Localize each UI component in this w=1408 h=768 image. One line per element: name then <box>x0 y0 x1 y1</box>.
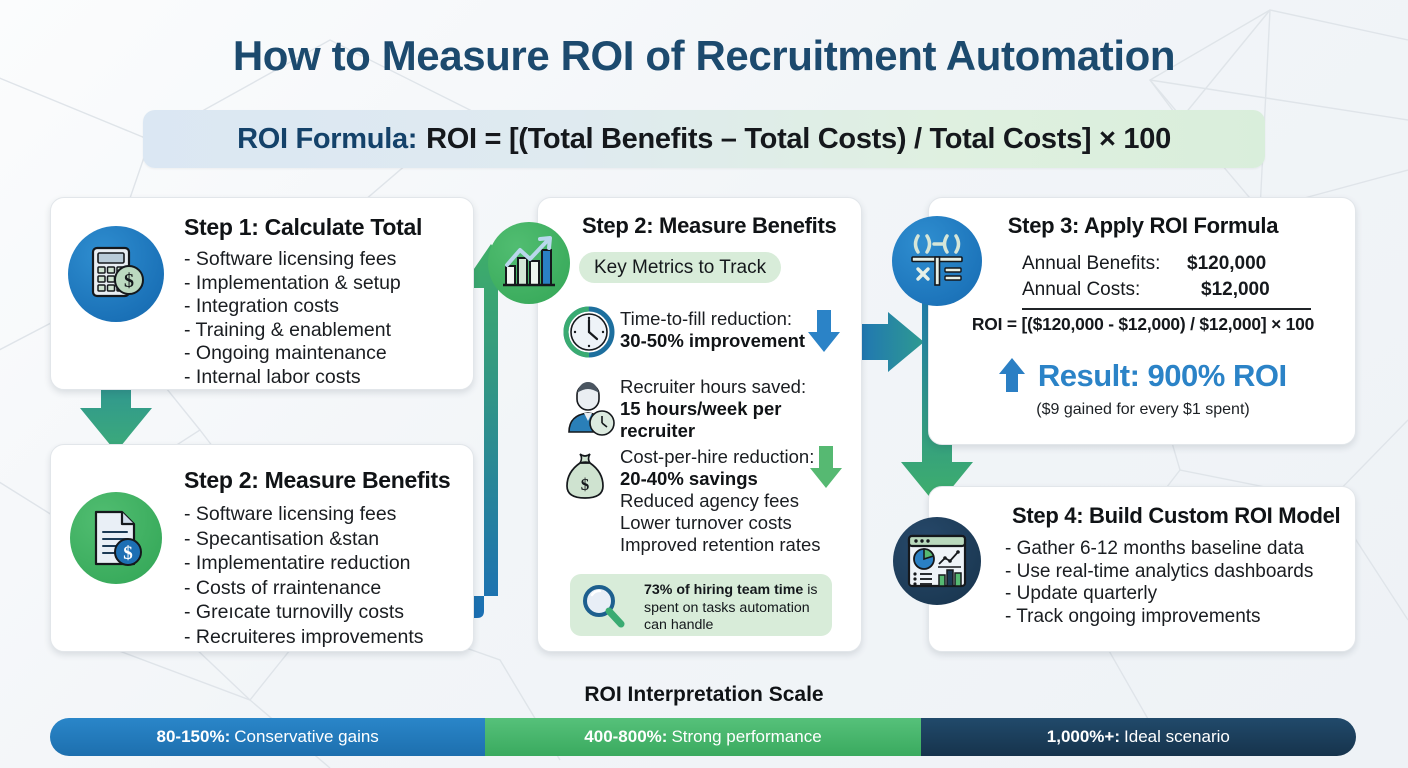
card-step2-metrics-title: Step 2: Measure Benefits <box>582 213 836 239</box>
list-item: - Training & enablement <box>184 319 401 343</box>
metric-cost-per-hire: Cost-per-hire reduction: 20-40% savings … <box>620 446 821 556</box>
metric-extra: Improved retention rates <box>620 534 821 556</box>
growth-chart-icon <box>500 234 558 292</box>
list-item: - Specantisation &stan <box>184 527 423 552</box>
metric-label: Recruiter hours saved: <box>620 376 806 398</box>
metric-extra: Reduced agency fees <box>620 490 821 512</box>
formula-label: ROI Formula: <box>237 123 417 156</box>
scale-range: 400-800%: <box>584 727 667 747</box>
svg-text:$: $ <box>123 543 133 564</box>
metric-value-cont: recruiter <box>620 420 806 442</box>
metric-time-to-fill: Time-to-fill reduction: 30-50% improveme… <box>620 308 805 352</box>
hiring-stat-bold: 73% of hiring team time <box>644 582 803 598</box>
metric-label: Time-to-fill reduction: <box>620 308 805 330</box>
card-step1-title: Step 1: Calculate Total <box>184 214 422 241</box>
roi-result-subtext: ($9 gained for every $1 spent) <box>929 401 1357 419</box>
list-item: - Software licensing fees <box>184 502 423 527</box>
svg-text:$: $ <box>124 270 134 292</box>
scale-segment-ideal: 1,000%+: Ideal scenario <box>921 718 1356 756</box>
hiring-stat-text: 73% of hiring team time is spent on task… <box>644 582 822 635</box>
metric-value: 15 hours/week per <box>620 398 806 420</box>
document-dollar-icon-badge: $ <box>70 492 162 584</box>
list-item: - Integration costs <box>184 295 401 319</box>
up-arrow-blue-icon <box>999 358 1025 392</box>
roi-interpretation-scale: 80-150%: Conservative gains 400-800%: St… <box>50 718 1356 756</box>
list-item: - Update quarterly <box>1005 583 1313 606</box>
card-step2-costs-bullets: - Software licensing fees - Specantisati… <box>184 502 423 649</box>
scale-label: Conservative gains <box>234 727 379 747</box>
metric-value: 20-40% savings <box>620 468 821 490</box>
card-step3: Step 3: Apply ROI Formula Annual Benefit… <box>928 197 1356 445</box>
list-item: - Implementatire reduction <box>184 551 423 576</box>
formula-icon <box>906 232 968 290</box>
card-step4: Step 4: Build Custom ROI Model - Gather … <box>928 486 1356 652</box>
scale-label: Strong performance <box>671 727 821 747</box>
list-item: - Track ongoing improvements <box>1005 606 1313 629</box>
card-step4-bullets: - Gather 6-12 months baseline data - Use… <box>1005 538 1313 628</box>
growth-chart-icon-badge <box>488 222 570 304</box>
formula-icon-badge <box>892 216 982 306</box>
list-item: - Greıcate turnovilly costs <box>184 600 423 625</box>
annual-costs-label: Annual Costs: <box>1022 279 1140 301</box>
arrow-step2middle-to-step3 <box>852 312 924 372</box>
annual-benefits-value: $120,000 <box>1187 253 1266 275</box>
annual-benefits-label: Annual Benefits: <box>1022 253 1160 275</box>
recruiter-icon <box>569 382 614 435</box>
card-step2-metrics: Step 2: Measure Benefits Key Metrics to … <box>537 197 862 652</box>
card-step2-costs-title: Step 2: Measure Benefits <box>184 467 450 494</box>
list-item: - Costs of rraintenance <box>184 576 423 601</box>
annual-costs-value: $12,000 <box>1201 279 1270 301</box>
scale-range: 1,000%+: <box>1047 727 1120 747</box>
card-step4-title: Step 4: Build Custom ROI Model <box>1012 503 1340 529</box>
formula-expression: ROI = [(Total Benefits – Total Costs) / … <box>426 123 1171 156</box>
list-item: - Use real-time analytics dashboards <box>1005 561 1313 584</box>
infographic-canvas: How to Measure ROI of Recruitment Automa… <box>0 0 1408 768</box>
divider <box>1022 308 1311 310</box>
scale-segment-strong: 400-800%: Strong performance <box>485 718 920 756</box>
hiring-stat-callout: 73% of hiring team time is spent on task… <box>570 574 832 636</box>
money-bag-icon: $ <box>567 454 603 498</box>
scale-title: ROI Interpretation Scale <box>0 683 1408 707</box>
scale-segment-conservative: 80-150%: Conservative gains <box>50 718 485 756</box>
down-arrow-blue-icon <box>808 310 840 352</box>
list-item: - Recruiteres improvements <box>184 625 423 650</box>
dashboard-icon-badge <box>893 517 981 605</box>
roi-equation: ROI = [($120,000 - $12,000) / $12,000] ×… <box>929 314 1357 335</box>
page-title: How to Measure ROI of Recruitment Automa… <box>0 32 1408 80</box>
card-step3-title: Step 3: Apply ROI Formula <box>929 213 1357 239</box>
roi-result-row: Result: 900% ROI <box>929 358 1357 394</box>
roi-formula-banner: ROI Formula: ROI = [(Total Benefits – To… <box>143 110 1265 168</box>
document-dollar-icon: $ <box>86 508 146 568</box>
clock-icon <box>566 309 612 355</box>
list-item: - Software licensing fees <box>184 248 401 272</box>
roi-result-text: Result: 900% ROI <box>1038 358 1287 393</box>
metric-value: 30-50% improvement <box>620 330 805 352</box>
scale-range: 80-150%: <box>157 727 231 747</box>
scale-label: Ideal scenario <box>1124 727 1230 747</box>
metric-recruiter-hours: Recruiter hours saved: 15 hours/week per… <box>620 376 806 442</box>
key-metrics-pill-label: Key Metrics to Track <box>594 257 766 279</box>
list-item: - Internal labor costs <box>184 366 401 390</box>
list-item: - Implementation & setup <box>184 272 401 296</box>
list-item: - Gather 6-12 months baseline data <box>1005 538 1313 561</box>
dashboard-icon <box>906 533 968 589</box>
list-item: - Ongoing maintenance <box>184 342 401 366</box>
key-metrics-pill: Key Metrics to Track <box>579 252 781 283</box>
calculator-icon: $ <box>85 243 147 305</box>
svg-text:$: $ <box>581 475 590 494</box>
metric-extra: Lower turnover costs <box>620 512 821 534</box>
calculator-icon-badge: $ <box>68 226 164 322</box>
metric-label: Cost-per-hire reduction: <box>620 446 821 468</box>
card-step1-bullets: - Software licensing fees - Implementati… <box>184 248 401 389</box>
